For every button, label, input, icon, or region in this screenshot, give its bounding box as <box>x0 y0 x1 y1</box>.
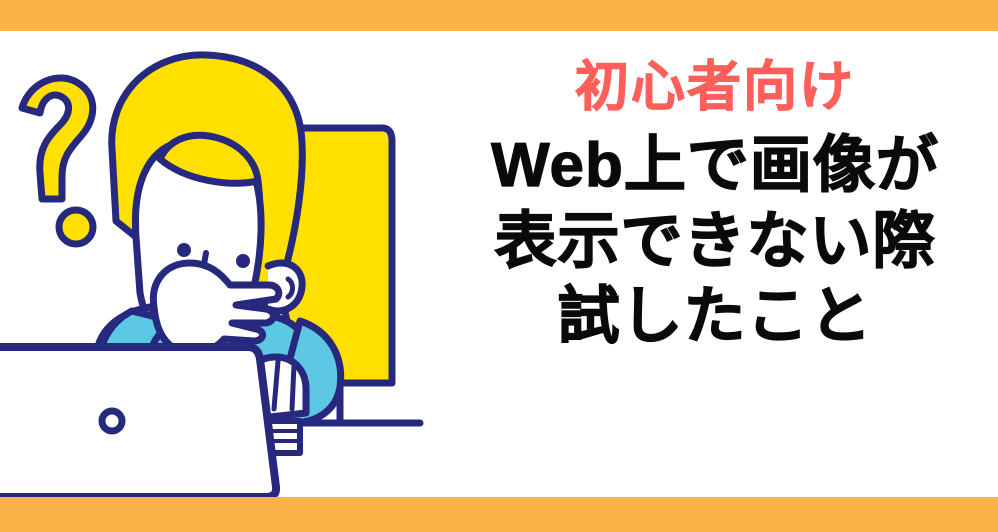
eye-right <box>236 254 250 268</box>
thumbnail-banner: 初心者向け Web上で画像が 表示できない際 試したこと <box>0 0 998 532</box>
eye-left <box>177 243 191 257</box>
person-thinking-at-laptop-illustration <box>0 31 430 497</box>
title-line-1: Web上で画像が <box>432 128 998 204</box>
top-accent-bar <box>0 0 998 31</box>
question-mark-icon <box>22 78 93 244</box>
eyebrow-label: 初心者向け <box>432 60 998 114</box>
title-line-3: 試したこと <box>432 279 998 355</box>
title-line-2: 表示できない際 <box>432 204 998 280</box>
laptop-logo <box>102 411 122 431</box>
laptop-screen <box>0 347 276 497</box>
bottom-accent-bar <box>0 497 998 532</box>
title-text-block: 初心者向け Web上で画像が 表示できない際 試したこと <box>432 60 998 355</box>
